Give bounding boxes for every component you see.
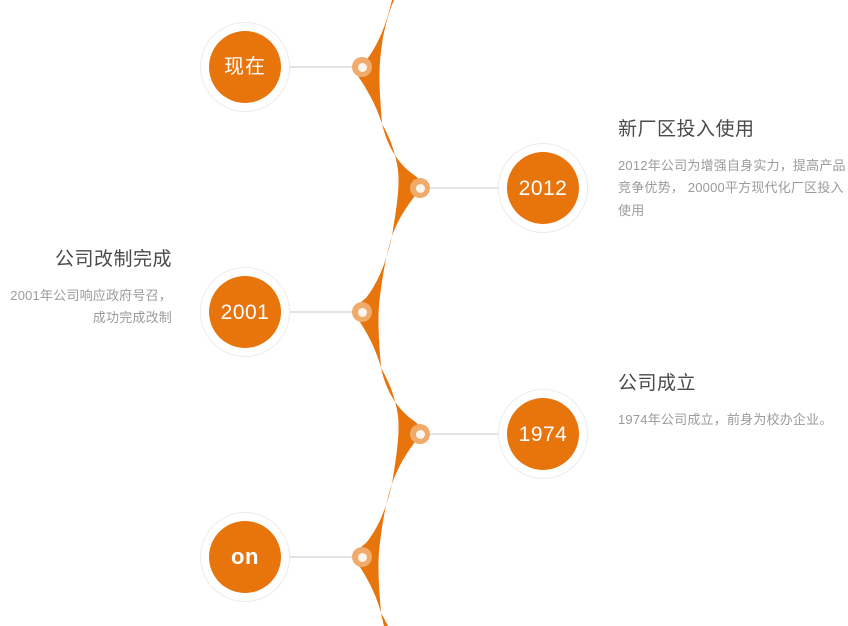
spine-dot-core [358,63,367,72]
node-disc: 2001 [209,276,281,348]
node-label: 现在 [224,57,266,77]
spine-dot-on[interactable] [352,547,372,567]
connector-2001 [290,311,356,313]
entry-heading: 公司改制完成 [0,248,172,273]
spine-dot-2012[interactable] [410,178,430,198]
entry-text-2001: 公司改制完成 2001年公司响应政府号召，成功完成改制 [0,248,172,330]
connector-2012 [422,187,498,189]
node-circle-2001[interactable]: 2001 [200,267,290,357]
spine-dot-2001[interactable] [352,302,372,322]
node-disc: on [209,521,281,593]
node-circle-now[interactable]: 现在 [200,22,290,112]
entry-body: 1974年公司成立，前身为校办企业。 [618,409,846,432]
entry-text-2012: 新厂区投入使用 2012年公司为增强自身实力，提高产品竞争优势， 20000平方… [618,118,846,223]
spine-dot-core [358,553,367,562]
entry-heading: 新厂区投入使用 [618,118,846,143]
node-disc: 1974 [507,398,579,470]
connector-1974 [422,433,498,435]
node-disc: 2012 [507,152,579,224]
spine-segment-bottom [381,613,388,626]
entry-heading: 公司成立 [618,372,846,397]
node-label: 2012 [519,178,568,199]
spine-dot-core [416,184,425,193]
entry-text-1974: 公司成立 1974年公司成立，前身为校办企业。 [618,372,846,431]
node-disc: 现在 [209,31,281,103]
node-circle-1974[interactable]: 1974 [498,389,588,479]
node-circle-2012[interactable]: 2012 [498,143,588,233]
spine-dot-core [416,430,425,439]
spine-dot-1974[interactable] [410,424,430,444]
node-label: on [231,546,259,568]
spine-dot-now[interactable] [352,57,372,77]
node-label: 1974 [519,424,568,445]
timeline-infographic: 现在 2012 2001 1974 on 新厂区投入使用 2012年公司为增强自… [0,0,848,626]
connector-on [290,556,356,558]
node-label: 2001 [221,302,270,323]
connector-now [290,66,356,68]
entry-body: 2012年公司为增强自身实力，提高产品竞争优势， 20000平方现代化厂区投入使… [618,155,846,223]
entry-body: 2001年公司响应政府号召，成功完成改制 [0,285,172,331]
node-circle-on[interactable]: on [200,512,290,602]
spine-dot-core [358,308,367,317]
